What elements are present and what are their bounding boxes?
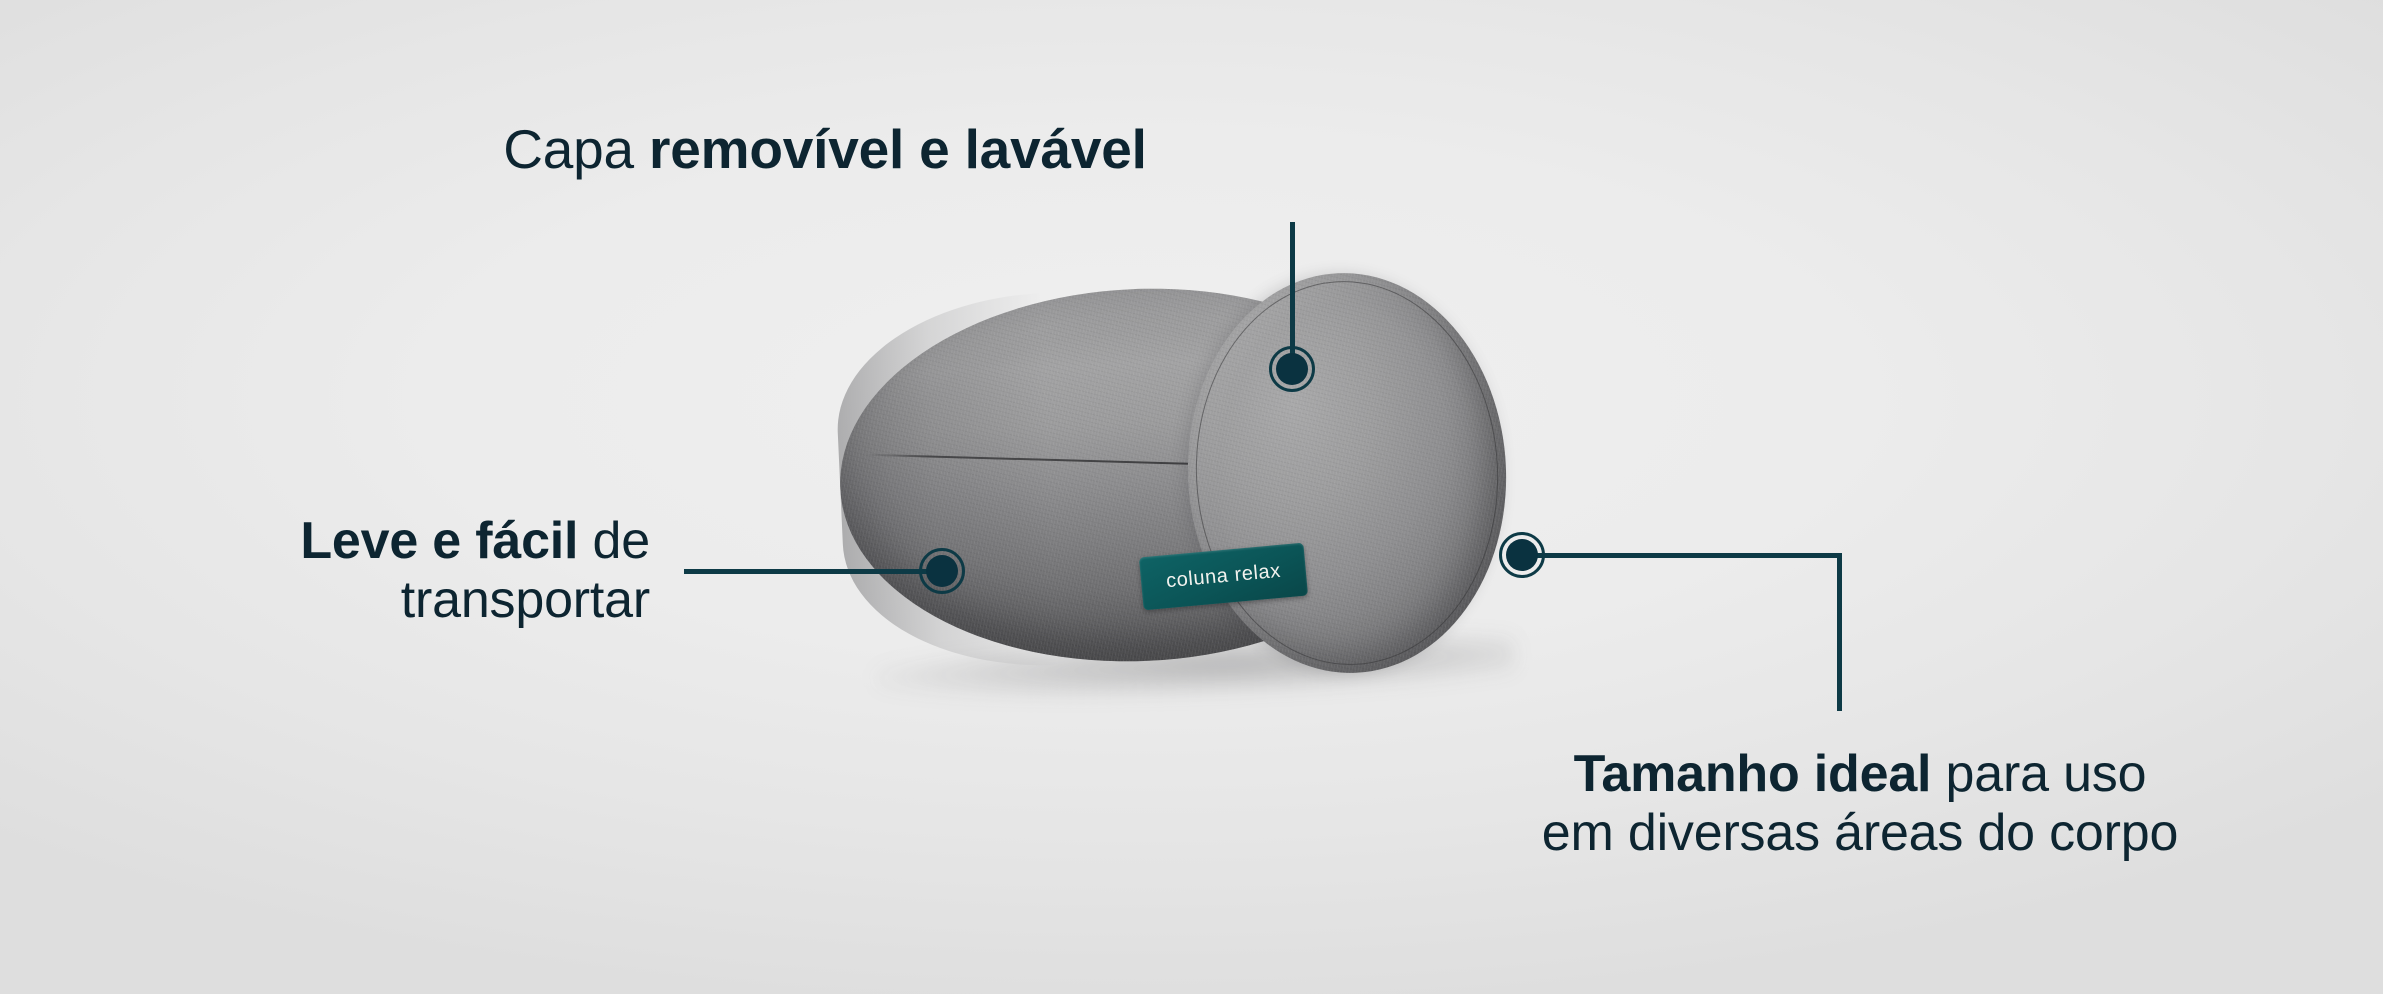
callout-left-line2: transportar — [120, 571, 650, 630]
leader-line-right-vert — [1837, 553, 1842, 711]
callout-right-line2: em diversas áreas do corpo — [1440, 804, 2280, 863]
leader-line-right-horiz — [1522, 553, 1842, 558]
callout-top-emphasis: removível e lavável — [649, 118, 1147, 180]
callout-marker-right-icon — [1499, 532, 1545, 578]
callout-left-emphasis: Leve e fácil — [300, 512, 578, 570]
callout-right-emphasis: Tamanho ideal — [1574, 745, 1932, 803]
callout-left: Leve e fácil de transportar — [120, 512, 650, 631]
leader-line-left — [684, 569, 948, 574]
infographic-canvas: coluna relax Capa removível e lavável Le… — [0, 0, 2383, 994]
callout-left-lead: de — [578, 512, 650, 570]
callout-marker-left-icon — [919, 548, 965, 594]
callout-right-lead: para uso — [1931, 745, 2146, 803]
callout-top-lead: Capa — [503, 118, 649, 180]
callout-right: Tamanho ideal para uso em diversas áreas… — [1440, 745, 2280, 864]
brand-tag-label: coluna relax — [1165, 560, 1282, 593]
callout-top: Capa removível e lavável — [0, 118, 1650, 181]
callout-marker-top-icon — [1269, 346, 1315, 392]
product-bolster-cushion — [830, 265, 1550, 715]
